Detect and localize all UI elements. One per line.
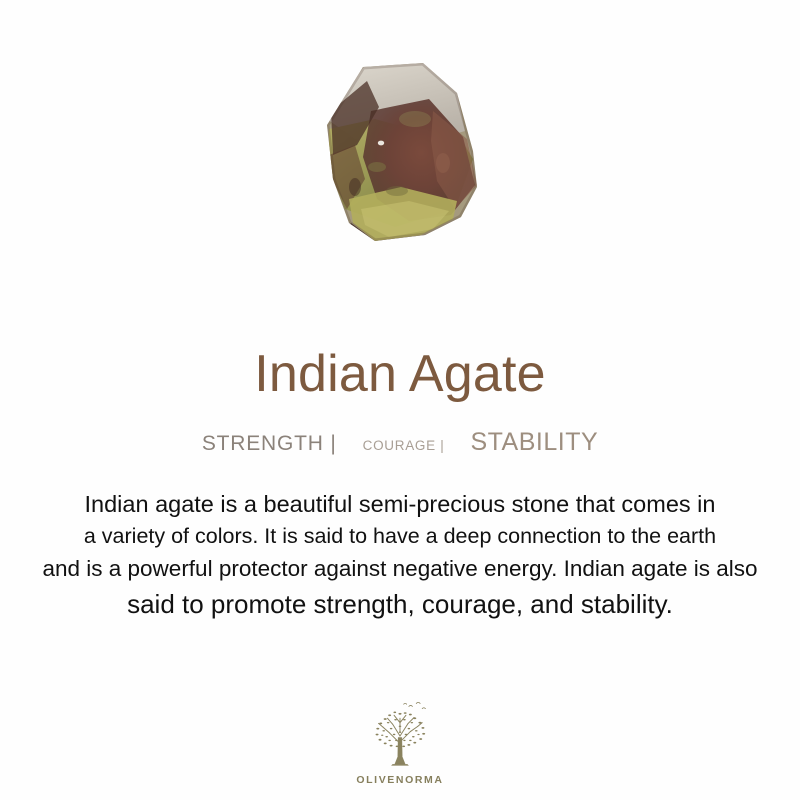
- stone-image-container: [0, 0, 800, 300]
- indian-agate-stone-icon: [305, 59, 495, 249]
- keyword-courage: COURAGE |: [363, 438, 445, 453]
- olive-tree-logo-icon: [363, 699, 437, 773]
- description-line-4: said to promote strength, courage, and s…: [0, 586, 800, 624]
- keyword-row: STRENGTH | COURAGE | STABILITY: [202, 428, 598, 457]
- description-paragraph: Indian agate is a beautiful semi-preciou…: [0, 487, 800, 623]
- brand-logo: OLIVENORMA: [0, 699, 800, 786]
- description-line-3: and is a powerful protector against nega…: [0, 553, 800, 586]
- page-title: Indian Agate: [254, 348, 546, 400]
- product-info-card: Indian Agate STRENGTH | COURAGE | STABIL…: [0, 0, 800, 800]
- description-line-1: Indian agate is a beautiful semi-preciou…: [0, 487, 800, 521]
- keyword-stability: STABILITY: [470, 428, 598, 457]
- brand-wordmark: OLIVENORMA: [356, 774, 443, 786]
- description-line-2: a variety of colors. It is said to have …: [0, 521, 800, 552]
- keyword-strength: STRENGTH |: [202, 432, 337, 456]
